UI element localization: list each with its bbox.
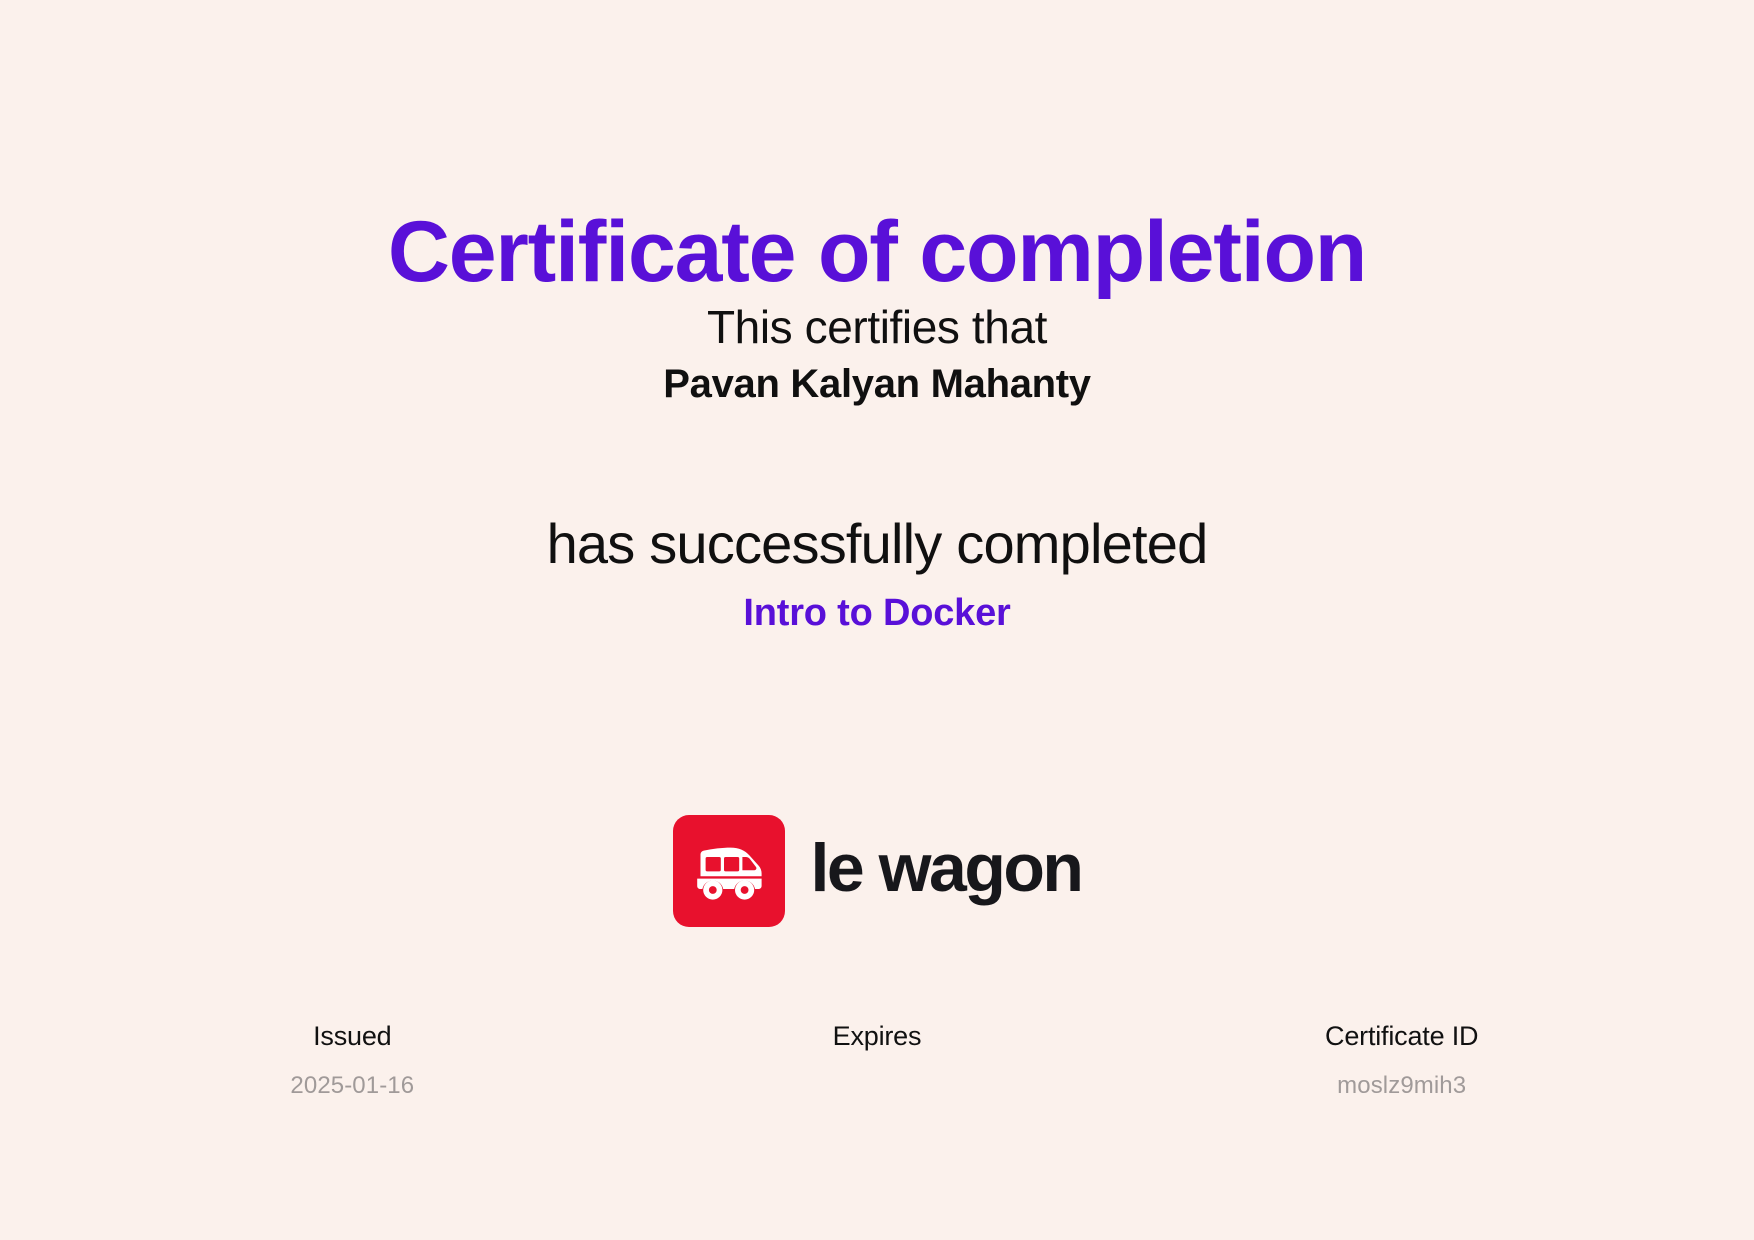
issued-value: 2025-01-16 xyxy=(90,1072,615,1101)
certificate-page: Certificate of completion This certifies… xyxy=(0,0,1754,1240)
certifies-text: This certifies that xyxy=(0,300,1754,354)
completed-block: has successfully completed Intro to Dock… xyxy=(0,512,1754,637)
certificate-id-value: moslz9mih3 xyxy=(1139,1072,1664,1101)
footer-column-certificate-id: Certificate ID moslz9mih3 xyxy=(1139,1020,1664,1101)
certificate-footer: Issued 2025-01-16 Expires Certificate ID… xyxy=(90,1020,1664,1101)
expires-label: Expires xyxy=(615,1020,1140,1052)
certificate-id-label: Certificate ID xyxy=(1139,1020,1664,1052)
issued-label: Issued xyxy=(90,1020,615,1052)
certifies-block: This certifies that Pavan Kalyan Mahanty xyxy=(0,300,1754,408)
minibus-icon xyxy=(692,840,766,902)
page-title: Certificate of completion xyxy=(0,206,1754,299)
recipient-name: Pavan Kalyan Mahanty xyxy=(0,360,1754,408)
course-name: Intro to Docker xyxy=(0,591,1754,637)
footer-column-issued: Issued 2025-01-16 xyxy=(90,1020,615,1101)
logo-mark-square xyxy=(673,815,785,927)
logo-wordmark: le wagon xyxy=(811,834,1082,908)
le-wagon-logo: le wagon xyxy=(0,815,1754,927)
footer-column-expires: Expires xyxy=(615,1020,1140,1101)
completed-text: has successfully completed xyxy=(0,512,1754,577)
expires-value xyxy=(615,1072,1140,1101)
